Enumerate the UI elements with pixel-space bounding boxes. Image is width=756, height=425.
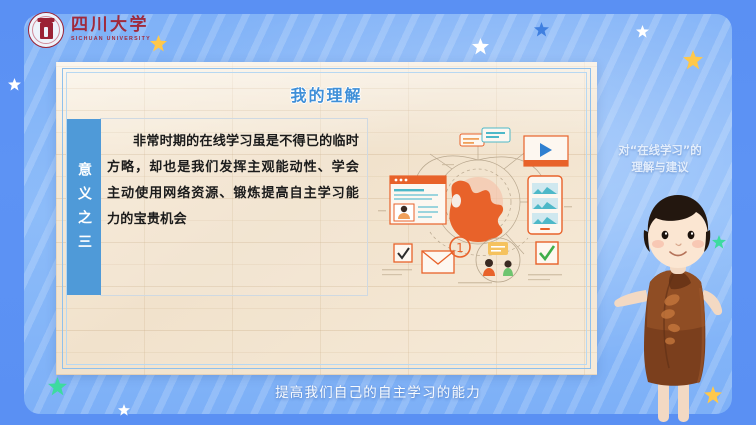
slide-card: 我的理解 意义之三 非常时期的在线学习虽是不得已的临时方略，却也是我们发挥主观能… [56,62,597,375]
logo-name-cn: 四川大学 [71,17,151,34]
university-logo: 四川大学 SICHUAN UNIVERSITY [28,12,151,48]
logo-name-en: SICHUAN UNIVERSITY [71,37,151,42]
overlay-title: 对“在线学习”的 理解与建议 [604,142,716,176]
svg-text:1: 1 [456,241,464,255]
slide-title: 我的理解 [56,82,597,106]
overlay-title-line2: 理解与建议 [604,159,716,176]
online-learning-network-illustration: 1 [378,114,574,304]
logo-text-block: 四川大学 SICHUAN UNIVERSITY [71,17,151,42]
university-seal-icon [28,12,64,48]
overlay-title-line1: 对“在线学习”的 [604,142,716,159]
body-paragraph: 非常时期的在线学习虽是不得已的临时方略，却也是我们发挥主观能动性、学会主动使用网… [101,119,367,295]
subtitle-caption: 提高我们自己的自主学习的能力 [0,381,756,401]
vertical-tab-label: 意义之三 [74,157,94,258]
seal-gate-glyph [40,22,53,39]
vertical-tab-significance: 意义之三 [67,119,101,295]
content-box: 意义之三 非常时期的在线学习虽是不得已的临时方略，却也是我们发挥主观能动性、学会… [100,118,368,296]
slide-screenshot: 四川大学 SICHUAN UNIVERSITY 我的理解 意义之三 非常时期的在… [0,0,756,425]
